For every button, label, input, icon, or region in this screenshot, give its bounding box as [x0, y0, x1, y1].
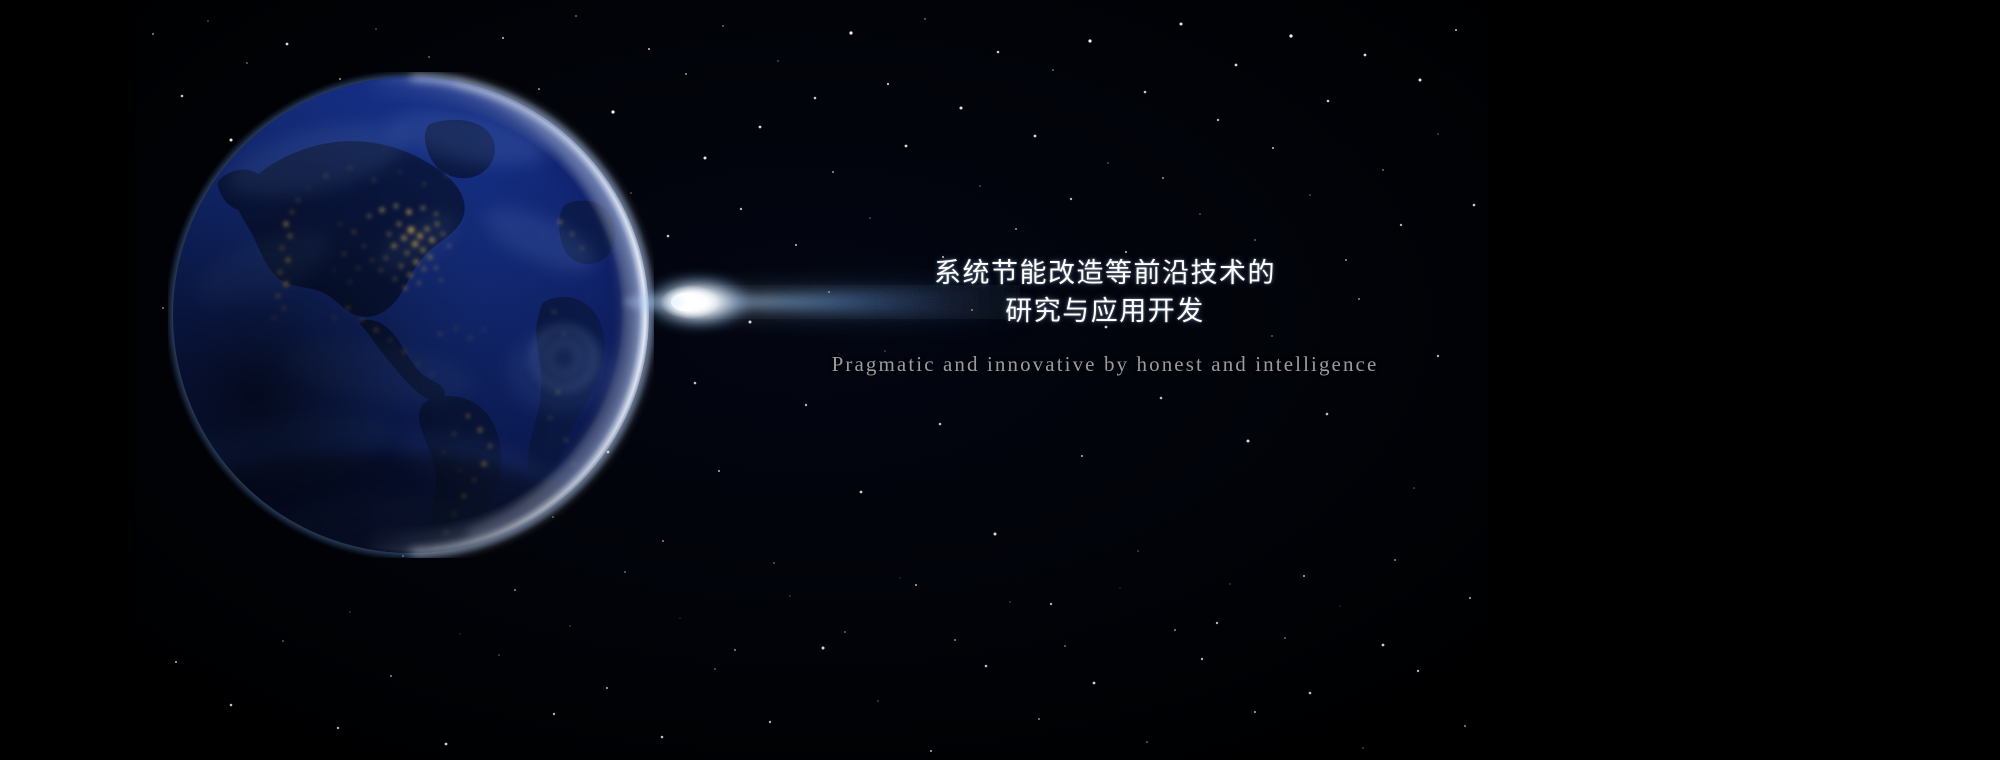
comet-svg	[620, 235, 1040, 370]
earth-night-globe	[168, 72, 654, 558]
comet-light-streak	[620, 235, 1040, 370]
earth-svg	[168, 72, 654, 558]
hero-banner: 系统节能改造等前沿技术的 研究与应用开发 Pragmatic and innov…	[0, 0, 2000, 760]
atmosphere-rim	[173, 77, 649, 553]
comet-leading-wisp	[624, 295, 684, 309]
